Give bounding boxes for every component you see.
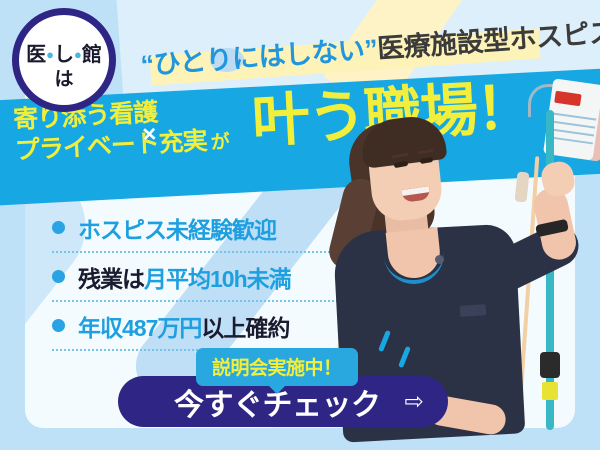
nurse-chest-pocket: [460, 304, 487, 317]
logo-char-1: 医: [26, 44, 46, 66]
iv-bag-line-1: [553, 113, 597, 121]
list-item: 残業は月平均10h未満: [52, 253, 342, 302]
iv-bag-line-3: [550, 128, 594, 136]
benefit-text-2: 残業は月平均10h未満: [78, 260, 291, 294]
iv-pole-label: [542, 382, 558, 400]
benefit-text-1: ホスピス未経験歓迎: [78, 211, 276, 245]
list-item: 年収487万円以上確約: [52, 302, 342, 351]
recruitment-banner: “ひとりにはしない”医療施設型ホスピス 寄り添う看護 × プライベート充実が 叶…: [0, 0, 600, 450]
arrow-right-icon: ⇨: [405, 390, 424, 413]
bullet-dot-icon: [52, 221, 65, 234]
logo-name-line-1: 医●し●館: [12, 38, 116, 67]
iv-pole-clamp: [540, 352, 560, 378]
benefit-2-plain: 残業は: [78, 266, 144, 292]
list-item: ホスピス未経験歓迎: [52, 204, 342, 253]
logo-char-3: 館: [82, 44, 102, 66]
bullet-dot-icon: [52, 319, 65, 332]
benefit-3-plain: 以上確約: [201, 315, 289, 341]
logo-char-2: し: [54, 44, 74, 66]
benefits-list: ホスピス未経験歓迎 残業は月平均10h未満 年収487万円以上確約: [52, 204, 342, 351]
seminar-badge: 説明会実施中！: [196, 348, 358, 386]
iv-bag-line-4: [549, 136, 593, 144]
nurse-scrub-button: [435, 255, 444, 264]
benefit-2-highlight: 月平均10h未満: [144, 266, 291, 292]
badge-tail-icon: [268, 385, 286, 394]
benefit-3-highlight: 年収487万円: [78, 315, 201, 341]
iv-drip-chamber: [514, 171, 529, 202]
iv-bag-line-2: [551, 120, 595, 128]
iv-bag-label: [554, 91, 581, 107]
bullet-dot-icon: [52, 270, 65, 283]
benefit-text-3: 年収487万円以上確約: [78, 309, 289, 343]
seminar-badge-label: 説明会実施中！: [212, 358, 342, 379]
brand-logo[interactable]: 医●し●館 は: [12, 8, 116, 112]
logo-dot-2: ●: [74, 47, 82, 62]
logo-name-line-2: は: [12, 64, 116, 91]
subheadline-particle: が: [210, 132, 229, 154]
logo-dot-1: ●: [46, 47, 54, 62]
cross-symbol: ×: [142, 122, 157, 148]
